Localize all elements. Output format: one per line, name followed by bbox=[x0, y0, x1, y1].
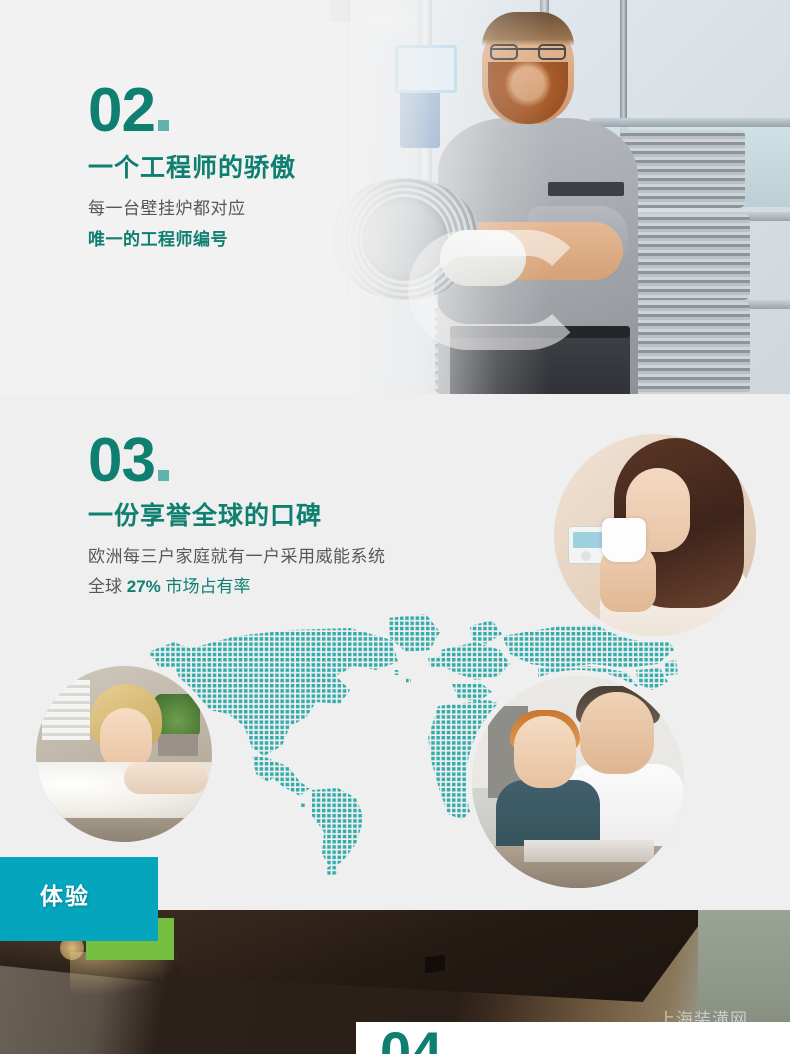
section-03-number-value: 03 bbox=[88, 426, 155, 495]
section-03-stat-line: 全球 27% 市场占有率 bbox=[88, 572, 386, 597]
photo-fade-overlay bbox=[290, 0, 550, 394]
open-book bbox=[524, 840, 654, 862]
section-02-number-value: 02 bbox=[88, 76, 155, 145]
section-02-text-block: 02 一个工程师的骄傲 每一台壁挂炉都对应 唯一的工程师编号 bbox=[88, 80, 296, 250]
section-02-number: 02 bbox=[88, 80, 169, 142]
stat-suffix: 市场占有率 bbox=[166, 577, 251, 596]
photo-woman-with-mug bbox=[554, 434, 756, 636]
thermostat-dial bbox=[581, 551, 591, 561]
uniform-logo-patch bbox=[548, 182, 624, 196]
section-03-heading: 一份享誉全球的口碑 bbox=[88, 496, 386, 532]
section-04-number: 04 bbox=[380, 1024, 442, 1054]
section-03-line-1: 欧洲每三户家庭就有一户采用威能系统 bbox=[88, 542, 386, 567]
stat-prefix: 全球 bbox=[88, 577, 122, 596]
photo-woman-in-bathtub bbox=[36, 666, 212, 842]
section-02-number-dot bbox=[158, 120, 169, 131]
section-02-heading: 一个工程师的骄傲 bbox=[88, 148, 296, 184]
section-02-line-1: 每一台壁挂炉都对应 bbox=[88, 194, 296, 219]
coil-stack bbox=[620, 214, 750, 300]
section-03: 03 一份享誉全球的口碑 欧洲每三户家庭就有一户采用威能系统 全球 27% 市场… bbox=[0, 394, 790, 910]
father-head bbox=[580, 692, 654, 774]
woman-face bbox=[100, 708, 152, 770]
section-03-number: 03 bbox=[88, 430, 169, 492]
section-02-line-2: 唯一的工程师编号 bbox=[88, 225, 296, 250]
stat-value: 27% bbox=[127, 577, 161, 596]
factory-photo bbox=[290, 0, 790, 394]
section-03-text-block: 03 一份享誉全球的口碑 欧洲每三户家庭就有一户采用威能系统 全球 27% 市场… bbox=[88, 430, 386, 597]
experience-tab[interactable]: 体验 bbox=[0, 857, 158, 941]
page-root: 02 一个工程师的骄傲 每一台壁挂炉都对应 唯一的工程师编号 03 一份享誉全球… bbox=[0, 0, 790, 1054]
plant-pot bbox=[158, 734, 198, 756]
ceiling-vent bbox=[425, 955, 445, 974]
section-02: 02 一个工程师的骄傲 每一台壁挂炉都对应 唯一的工程师编号 bbox=[0, 0, 790, 394]
window-blinds bbox=[42, 680, 90, 740]
coil-stack bbox=[620, 130, 745, 208]
site-watermark: 上海装潢网 bbox=[658, 1005, 748, 1030]
coffee-mug bbox=[602, 518, 646, 562]
experience-tab-label: 体验 bbox=[40, 877, 90, 911]
coil-stack bbox=[620, 302, 750, 394]
woman-arm bbox=[124, 762, 208, 794]
boy-head bbox=[514, 716, 576, 788]
photo-father-and-son bbox=[472, 676, 684, 888]
shelf-rail bbox=[590, 118, 790, 127]
section-03-number-dot bbox=[158, 470, 169, 481]
